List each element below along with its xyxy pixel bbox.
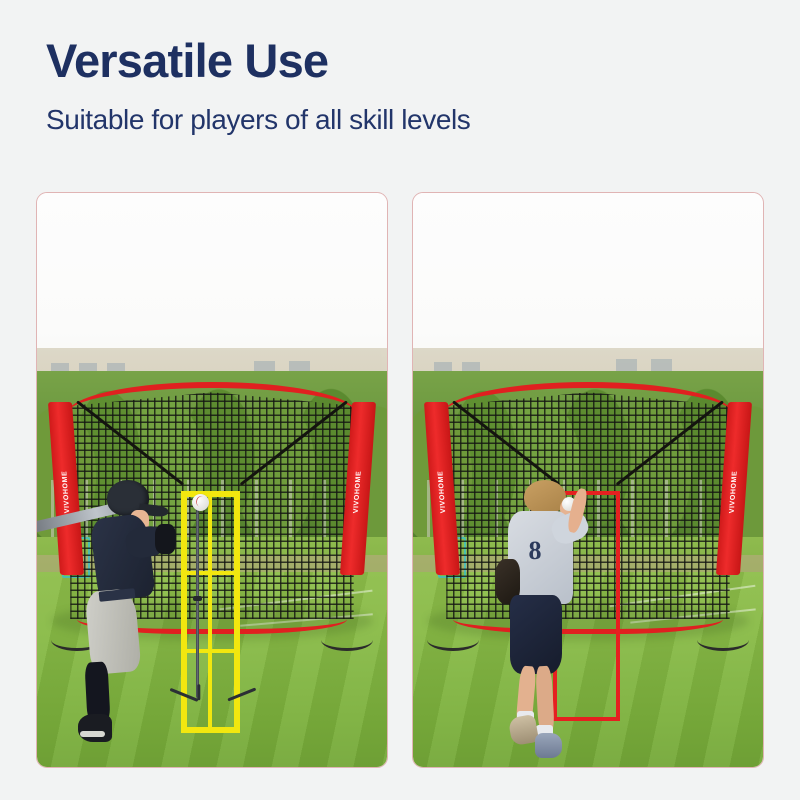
image-panel-right[interactable]: VIVOHOME VIVOHOME bbox=[412, 192, 764, 768]
page-subtitle: Suitable for players of all skill levels bbox=[46, 103, 746, 137]
player-shoe bbox=[78, 714, 113, 742]
photo-batting-tee-practice: VIVOHOME VIVOHOME bbox=[37, 193, 387, 767]
jersey-number: 8 bbox=[529, 536, 541, 566]
player-shorts bbox=[510, 595, 563, 674]
target-cell bbox=[210, 495, 236, 573]
net-top-frame bbox=[443, 382, 733, 414]
image-panel-left[interactable]: VIVOHOME VIVOHOME bbox=[36, 192, 388, 768]
image-panel-group: VIVOHOME VIVOHOME bbox=[36, 192, 764, 768]
batting-tee bbox=[196, 509, 199, 698]
brand-label-left: VIVOHOME bbox=[62, 471, 72, 514]
player-batter bbox=[76, 480, 181, 756]
brand-label-right: VIVOHOME bbox=[728, 471, 738, 514]
player-shoe-right bbox=[535, 733, 562, 758]
player-thrower: 8 bbox=[497, 480, 602, 761]
product-feature-slide: Versatile Use Suitable for players of al… bbox=[0, 0, 800, 800]
page-title: Versatile Use bbox=[46, 36, 746, 86]
target-cell bbox=[210, 573, 236, 651]
player-leg-right bbox=[535, 665, 554, 733]
brand-label-left: VIVOHOME bbox=[438, 471, 448, 514]
photo-throwing-practice: VIVOHOME VIVOHOME bbox=[413, 193, 763, 767]
brand-label-right: VIVOHOME bbox=[352, 471, 362, 514]
net-top-frame bbox=[67, 382, 357, 414]
tee-collar bbox=[193, 596, 202, 601]
header: Versatile Use Suitable for players of al… bbox=[46, 36, 746, 136]
baseball-on-tee bbox=[192, 494, 209, 511]
batting-gloves bbox=[155, 524, 176, 554]
